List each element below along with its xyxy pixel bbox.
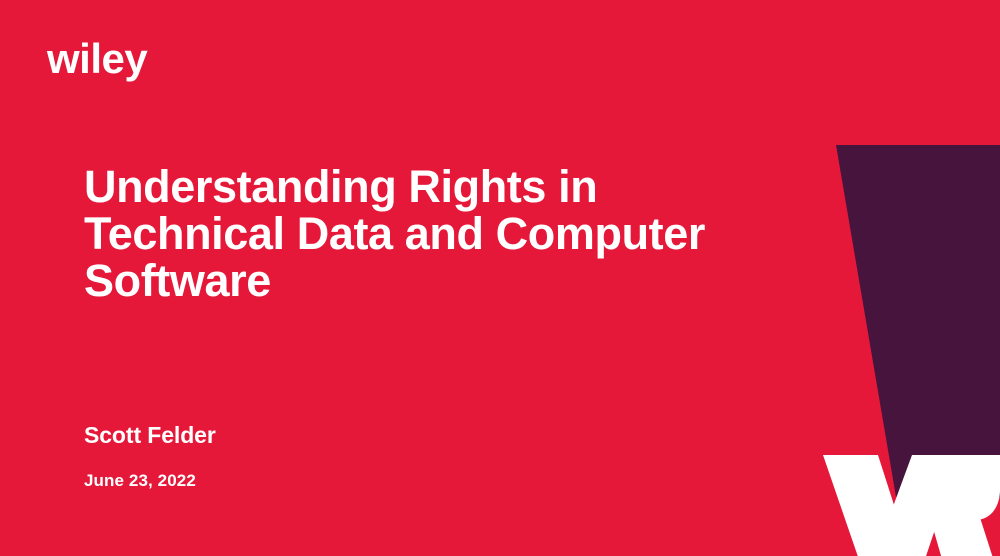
wiley-w-watermark xyxy=(823,455,1000,556)
presentation-date: June 23, 2022 xyxy=(84,471,216,491)
presenter-name: Scott Felder xyxy=(84,422,216,450)
title-slide: wiley Understanding Rights in Technical … xyxy=(0,0,1000,556)
wiley-logo: wiley xyxy=(47,38,147,80)
title-line-3: Software xyxy=(84,258,844,305)
title-block: Understanding Rights in Technical Data a… xyxy=(84,164,844,304)
title-line-2: Technical Data and Computer xyxy=(84,211,844,258)
title-line-1: Understanding Rights in xyxy=(84,164,844,211)
purple-angled-wedge xyxy=(836,145,1000,497)
presenter-block: Scott Felder June 23, 2022 xyxy=(84,422,216,491)
page-title: Understanding Rights in Technical Data a… xyxy=(84,164,844,304)
